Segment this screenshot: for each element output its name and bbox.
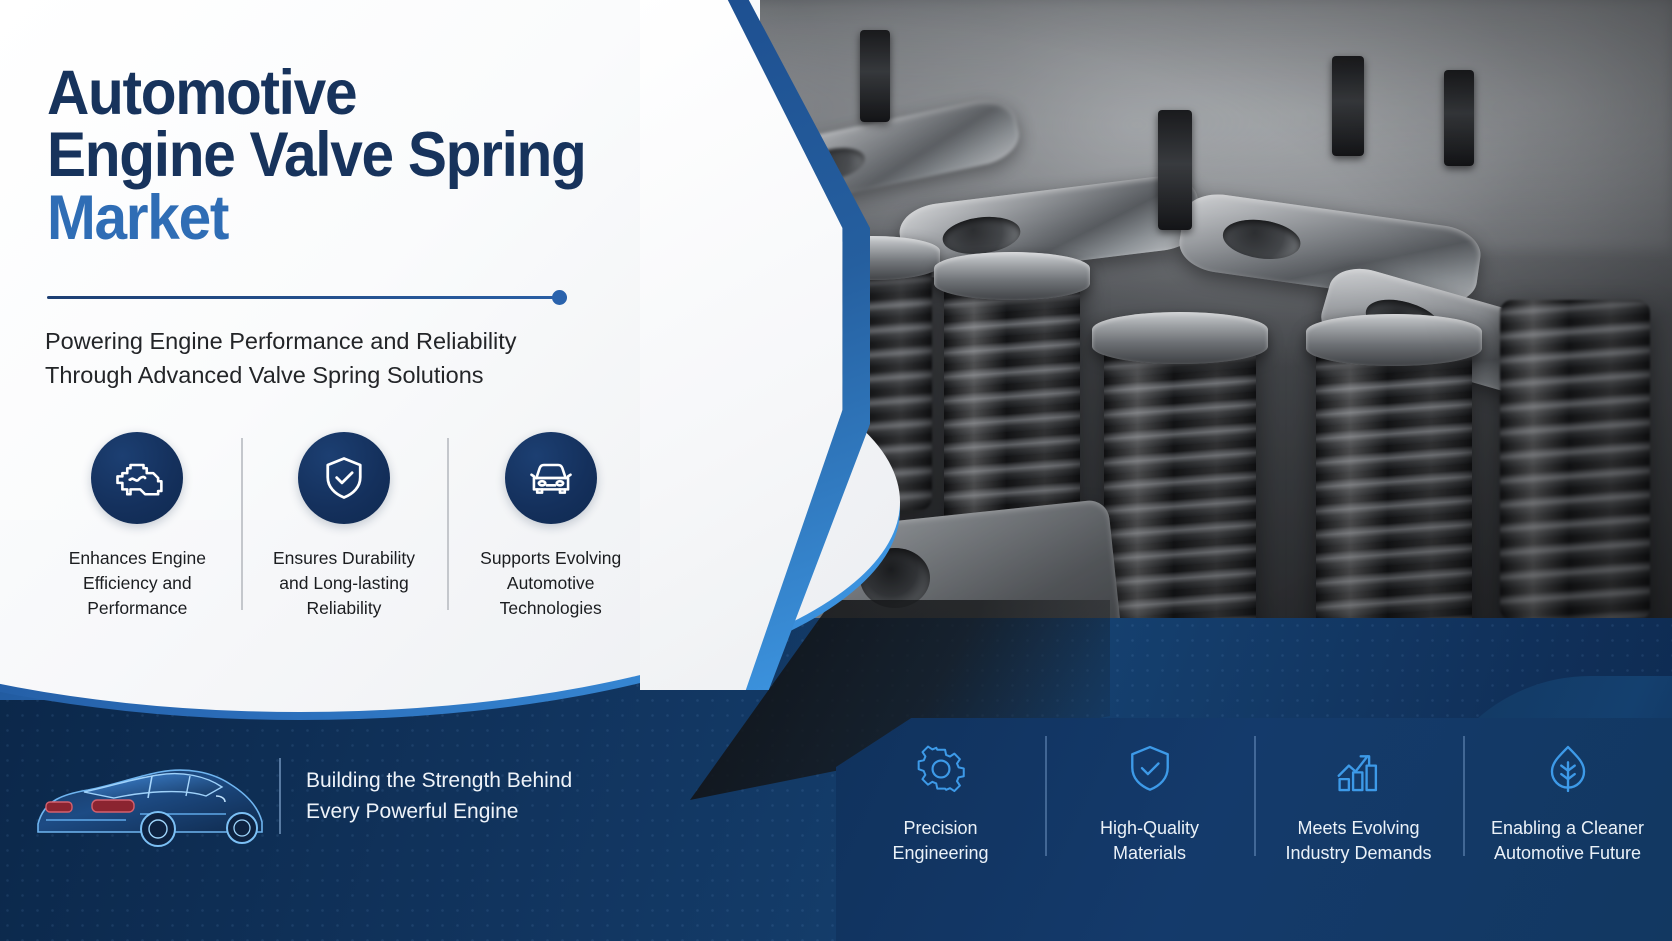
footer-item-meets-evolving-demands: Meets Evolving Industry Demands: [1254, 726, 1463, 926]
feature-label-line-3: Performance: [87, 598, 187, 618]
gear-icon: [914, 742, 968, 796]
title-divider-dot: [552, 290, 567, 305]
shield-check-icon: [1123, 742, 1177, 796]
feature-label: Supports Evolving Automotive Technologie…: [480, 546, 621, 621]
sedan-car-illustration: [30, 736, 270, 856]
footer-item-precision-engineering: Precision Engineering: [836, 726, 1045, 926]
feature-label-line-3: Technologies: [500, 598, 602, 618]
feature-item-automotive-tech: Supports Evolving Automotive Technologie…: [447, 432, 654, 621]
title-line-1: Automotive: [47, 62, 698, 124]
feature-item-engine-efficiency: Enhances Engine Efficiency and Performan…: [34, 432, 241, 621]
footer-item-line-1: Meets Evolving: [1297, 818, 1419, 838]
growth-chart-icon: [1332, 742, 1386, 796]
footer-item-cleaner-future: Enabling a Cleaner Automotive Future: [1463, 726, 1672, 926]
feature-list: Enhances Engine Efficiency and Performan…: [34, 432, 654, 621]
footer-item-label: Meets Evolving Industry Demands: [1285, 816, 1431, 866]
tagline-divider: [279, 758, 281, 834]
footer-item-line-2: Materials: [1113, 843, 1186, 863]
title-line-2: Engine Valve Spring: [47, 124, 698, 186]
footer-item-line-2: Industry Demands: [1285, 843, 1431, 863]
feature-label: Enhances Engine Efficiency and Performan…: [69, 546, 206, 621]
feature-label-line-2: and Long-lasting: [279, 573, 408, 593]
engine-icon: [111, 452, 163, 504]
subtitle-line-1: Powering Engine Performance and Reliabil…: [45, 328, 517, 354]
footer-item-line-1: Enabling a Cleaner: [1491, 818, 1644, 838]
feature-label: Ensures Durability and Long-lasting Reli…: [273, 546, 415, 621]
footer-item-list: Precision Engineering High-Quality Mater…: [836, 726, 1672, 926]
footer-item-high-quality-materials: High-Quality Materials: [1045, 726, 1254, 926]
car-front-icon: [525, 452, 577, 504]
leaf-icon: [1541, 742, 1595, 796]
feature-item-durability: Ensures Durability and Long-lasting Reli…: [241, 432, 448, 621]
feature-icon-circle: [298, 432, 390, 524]
shield-check-icon: [318, 452, 370, 504]
title-divider-line: [47, 296, 567, 299]
feature-icon-circle: [91, 432, 183, 524]
page-title: Automotive Engine Valve Spring Market: [47, 62, 747, 249]
subtitle: Powering Engine Performance and Reliabil…: [45, 325, 665, 393]
footer-item-line-1: Precision: [903, 818, 977, 838]
feature-icon-circle: [505, 432, 597, 524]
footer-item-label: High-Quality Materials: [1100, 816, 1199, 866]
subtitle-line-2: Through Advanced Valve Spring Solutions: [45, 362, 484, 388]
footer-item-label: Enabling a Cleaner Automotive Future: [1491, 816, 1644, 866]
infographic-banner: Automotive Engine Valve Spring Market Po…: [0, 0, 1672, 941]
footer-item-line-2: Engineering: [892, 843, 988, 863]
feature-label-line-3: Reliability: [307, 598, 382, 618]
footer-item-label: Precision Engineering: [892, 816, 988, 866]
feature-label-line-2: Automotive: [507, 573, 595, 593]
footer-tagline: Building the Strength Behind Every Power…: [306, 766, 636, 827]
car-illustration-svg: [30, 736, 270, 856]
tagline-line-2: Every Powerful Engine: [306, 800, 518, 823]
feature-label-line-1: Ensures Durability: [273, 548, 415, 568]
feature-label-line-2: Efficiency and: [83, 573, 192, 593]
footer-item-line-1: High-Quality: [1100, 818, 1199, 838]
title-line-3: Market: [47, 187, 698, 249]
tagline-line-1: Building the Strength Behind: [306, 769, 572, 792]
feature-label-line-1: Enhances Engine: [69, 548, 206, 568]
feature-label-line-1: Supports Evolving: [480, 548, 621, 568]
footer-item-line-2: Automotive Future: [1494, 843, 1641, 863]
